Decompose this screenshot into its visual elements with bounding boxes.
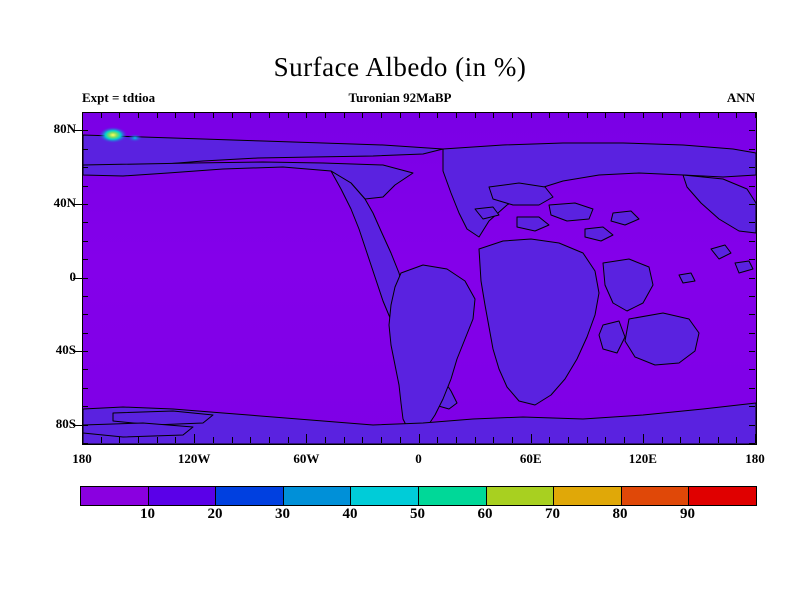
x-minor-tick-top	[493, 112, 494, 118]
x-minor-tick-bottom	[381, 437, 382, 443]
x-minor-tick-bottom	[699, 437, 700, 443]
x-minor-tick-top	[157, 112, 158, 118]
x-minor-tick-top	[456, 112, 457, 118]
x-minor-tick-bottom	[605, 437, 606, 443]
y-minor-tick-right	[749, 369, 755, 370]
x-minor-tick-top	[718, 112, 719, 118]
x-minor-tick-bottom	[250, 437, 251, 443]
colorbar-swatch[interactable]	[554, 487, 622, 505]
x-minor-tick-top	[624, 112, 625, 118]
colorbar-tick-label: 90	[668, 506, 708, 523]
y-minor-tick-right	[749, 278, 755, 279]
x-major-tick	[306, 434, 307, 443]
x-major-tick	[419, 434, 420, 443]
x-minor-tick-top	[362, 112, 363, 118]
x-minor-tick-bottom	[288, 437, 289, 443]
colorbar-swatch[interactable]	[351, 487, 419, 505]
colorbar-swatch[interactable]	[216, 487, 284, 505]
y-minor-tick-right	[749, 167, 755, 168]
y-minor-tick-right	[749, 241, 755, 242]
y-minor-tick-right	[749, 222, 755, 223]
x-major-tick	[82, 434, 83, 443]
y-axis-label: 80S	[30, 416, 76, 432]
y-minor-tick-right	[749, 333, 755, 334]
x-axis-label: 180	[725, 451, 785, 467]
x-minor-tick-top	[232, 112, 233, 118]
colorbar-tick-label: 10	[128, 506, 168, 523]
x-minor-tick-top	[699, 112, 700, 118]
y-minor-tick-left	[82, 204, 88, 205]
x-minor-tick-bottom	[662, 437, 663, 443]
map-plot-area	[82, 112, 757, 445]
colorbar-tick-label: 60	[465, 506, 505, 523]
y-minor-tick-left	[82, 406, 88, 407]
x-minor-tick-bottom	[718, 437, 719, 443]
y-axis-label: 40S	[30, 342, 76, 358]
colorbar-swatch[interactable]	[284, 487, 352, 505]
y-minor-tick-right	[749, 388, 755, 389]
y-minor-tick-left	[82, 351, 88, 352]
x-minor-tick-bottom	[325, 437, 326, 443]
y-minor-tick-right	[749, 112, 755, 113]
x-minor-tick-top	[288, 112, 289, 118]
x-minor-tick-top	[325, 112, 326, 118]
x-minor-tick-bottom	[493, 437, 494, 443]
y-minor-tick-left	[82, 425, 88, 426]
y-axis-label: 40N	[30, 195, 76, 211]
colorbar[interactable]	[80, 486, 757, 506]
x-axis-label: 120W	[164, 451, 224, 467]
y-minor-tick-right	[749, 204, 755, 205]
y-minor-tick-left	[82, 222, 88, 223]
x-minor-tick-bottom	[101, 437, 102, 443]
y-minor-tick-left	[82, 314, 88, 315]
x-minor-tick-bottom	[119, 437, 120, 443]
season-label: ANN	[727, 90, 755, 106]
x-minor-tick-bottom	[175, 437, 176, 443]
colorbar-swatch[interactable]	[81, 487, 149, 505]
world-map-svg	[83, 113, 756, 444]
y-minor-tick-right	[749, 443, 755, 444]
x-minor-tick-top	[643, 112, 644, 118]
x-minor-tick-top	[475, 112, 476, 118]
x-minor-tick-top	[755, 112, 756, 118]
x-minor-tick-bottom	[269, 437, 270, 443]
y-minor-tick-right	[749, 149, 755, 150]
x-minor-tick-bottom	[624, 437, 625, 443]
x-minor-tick-top	[605, 112, 606, 118]
y-minor-tick-left	[82, 278, 88, 279]
colorbar-tick-label: 70	[533, 506, 573, 523]
y-minor-tick-left	[82, 443, 88, 444]
x-minor-tick-top	[250, 112, 251, 118]
x-minor-tick-top	[419, 112, 420, 118]
x-minor-tick-bottom	[680, 437, 681, 443]
x-minor-tick-bottom	[587, 437, 588, 443]
page-title: Surface Albedo (in %)	[0, 52, 800, 83]
y-minor-tick-right	[749, 186, 755, 187]
x-minor-tick-bottom	[549, 437, 550, 443]
colorbar-swatch[interactable]	[419, 487, 487, 505]
y-minor-tick-left	[82, 259, 88, 260]
y-axis-label: 0	[30, 269, 76, 285]
y-minor-tick-left	[82, 149, 88, 150]
y-minor-tick-right	[749, 259, 755, 260]
x-minor-tick-top	[662, 112, 663, 118]
x-major-tick	[194, 434, 195, 443]
x-minor-tick-top	[568, 112, 569, 118]
y-axis-label: 80N	[30, 121, 76, 137]
x-minor-tick-top	[344, 112, 345, 118]
colorbar-swatch[interactable]	[149, 487, 217, 505]
x-major-tick	[531, 434, 532, 443]
x-minor-tick-top	[381, 112, 382, 118]
x-minor-tick-top	[119, 112, 120, 118]
x-minor-tick-top	[213, 112, 214, 118]
subtitle-label: Turonian 92MaBP	[0, 90, 800, 106]
y-minor-tick-left	[82, 333, 88, 334]
x-minor-tick-bottom	[232, 437, 233, 443]
y-minor-tick-left	[82, 369, 88, 370]
x-minor-tick-bottom	[344, 437, 345, 443]
x-minor-tick-top	[269, 112, 270, 118]
y-minor-tick-right	[749, 130, 755, 131]
x-minor-tick-top	[680, 112, 681, 118]
x-minor-tick-bottom	[138, 437, 139, 443]
x-minor-tick-top	[194, 112, 195, 118]
x-minor-tick-top	[587, 112, 588, 118]
x-minor-tick-bottom	[213, 437, 214, 443]
x-minor-tick-top	[138, 112, 139, 118]
y-minor-tick-right	[749, 351, 755, 352]
x-minor-tick-bottom	[512, 437, 513, 443]
x-axis-label: 60W	[276, 451, 336, 467]
x-minor-tick-top	[175, 112, 176, 118]
x-minor-tick-bottom	[437, 437, 438, 443]
y-minor-tick-right	[749, 406, 755, 407]
x-minor-tick-top	[512, 112, 513, 118]
colorbar-tick-label: 30	[263, 506, 303, 523]
x-minor-tick-bottom	[157, 437, 158, 443]
y-minor-tick-left	[82, 186, 88, 187]
x-major-tick	[755, 434, 756, 443]
y-minor-tick-left	[82, 167, 88, 168]
x-minor-tick-top	[437, 112, 438, 118]
y-minor-tick-left	[82, 296, 88, 297]
y-minor-tick-right	[749, 314, 755, 315]
y-minor-tick-right	[749, 296, 755, 297]
x-minor-tick-top	[400, 112, 401, 118]
colorbar-swatch[interactable]	[487, 487, 555, 505]
x-minor-tick-top	[531, 112, 532, 118]
x-minor-tick-bottom	[568, 437, 569, 443]
x-minor-tick-bottom	[362, 437, 363, 443]
colorbar-tick-label: 40	[330, 506, 370, 523]
y-minor-tick-right	[749, 425, 755, 426]
colorbar-swatch[interactable]	[622, 487, 690, 505]
y-minor-tick-left	[82, 112, 88, 113]
x-minor-tick-top	[306, 112, 307, 118]
x-minor-tick-bottom	[456, 437, 457, 443]
x-minor-tick-bottom	[736, 437, 737, 443]
y-minor-tick-left	[82, 241, 88, 242]
x-major-tick	[643, 434, 644, 443]
x-minor-tick-bottom	[400, 437, 401, 443]
colorbar-swatch[interactable]	[689, 487, 756, 505]
colorbar-tick-label: 20	[195, 506, 235, 523]
x-axis-label: 120E	[613, 451, 673, 467]
y-minor-tick-left	[82, 388, 88, 389]
colorbar-tick-label: 80	[600, 506, 640, 523]
x-minor-tick-top	[549, 112, 550, 118]
y-minor-tick-left	[82, 130, 88, 131]
x-axis-label: 180	[52, 451, 112, 467]
x-axis-label: 0	[389, 451, 449, 467]
colorbar-tick-label: 50	[398, 506, 438, 523]
x-minor-tick-top	[736, 112, 737, 118]
x-minor-tick-top	[101, 112, 102, 118]
x-minor-tick-bottom	[475, 437, 476, 443]
x-axis-label: 60E	[501, 451, 561, 467]
